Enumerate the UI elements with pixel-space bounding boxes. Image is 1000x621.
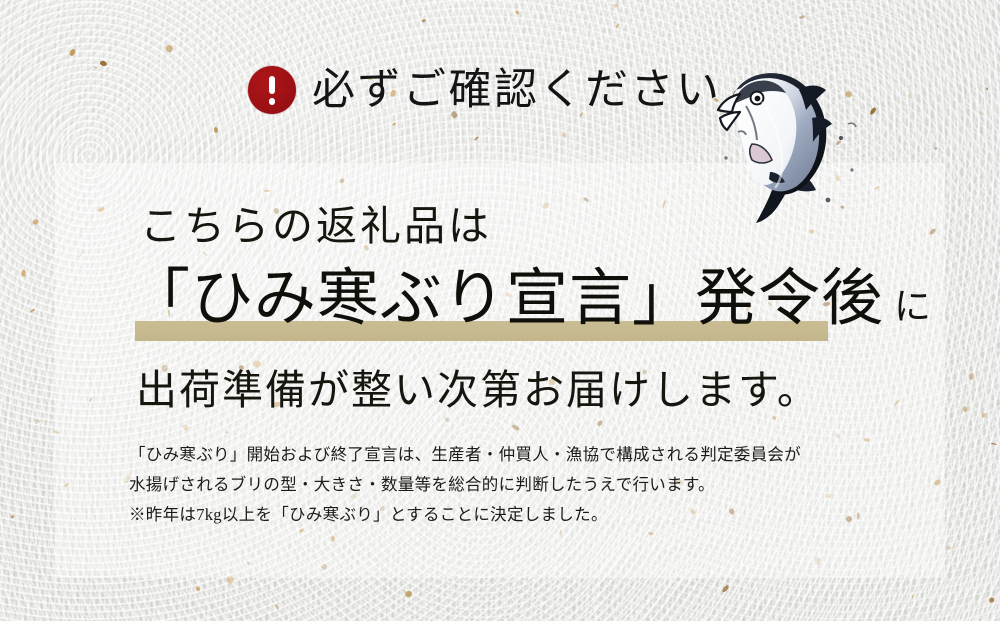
leaping-yellowtail-fish-illustration <box>700 40 885 225</box>
notice-banner: 必ずご確認ください こちらの返礼品は 「ひみ寒ぶり宣言」発令後 に 出荷準備が整… <box>0 0 1000 621</box>
headline-declaration-text: 「ひみ寒ぶり宣言」発令後 <box>128 268 884 330</box>
header-row: 必ずご確認ください <box>248 66 722 114</box>
headline-line-3: 出荷準備が整い次第お届けします。 <box>136 370 820 411</box>
fineprint-block: 「ひみ寒ぶり」開始および終了宣言は、生産者・仲買人・漁協で構成される判定委員会が… <box>129 440 801 530</box>
header-title: 必ずご確認ください <box>312 69 722 112</box>
headline-particle-text: に <box>884 289 932 330</box>
headline-line-2: 「ひみ寒ぶり宣言」発令後 に <box>128 268 932 330</box>
exclamation-circle-icon <box>248 66 296 114</box>
headline-line-1: こちらの返礼品は <box>140 206 492 247</box>
banner-content: 必ずご確認ください こちらの返礼品は 「ひみ寒ぶり宣言」発令後 に 出荷準備が整… <box>0 0 1000 621</box>
fineprint-line: ※昨年は7kg以上を「ひみ寒ぶり」とすることに決定しました。 <box>129 500 801 530</box>
fineprint-line: 「ひみ寒ぶり」開始および終了宣言は、生産者・仲買人・漁協で構成される判定委員会が <box>129 440 801 470</box>
fineprint-line: 水揚げされるブリの型・大きさ・数量等を総合的に判断したうえで行います。 <box>129 470 801 500</box>
